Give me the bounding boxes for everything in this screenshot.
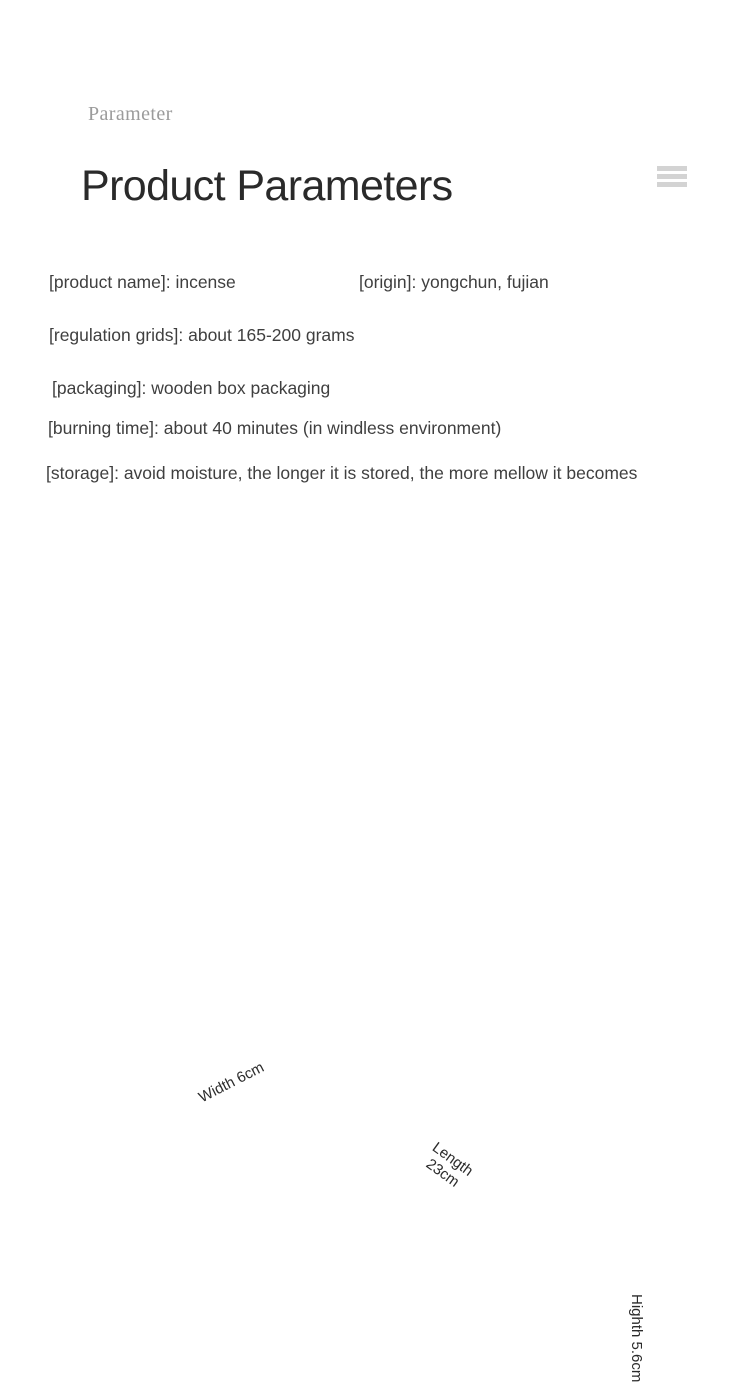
spec-row: [product name]: incense[origin]: yongchu…	[49, 271, 549, 294]
spec-storage: [storage]: avoid moisture, the longer it…	[46, 462, 637, 485]
menu-bar-3	[657, 182, 687, 187]
spec-origin: [origin]: yongchun, fujian	[359, 271, 549, 294]
length-dimension-label: Length 23cm	[419, 1139, 477, 1194]
product-photo-figure: Width 6cm Length 23cm Highth 5.6cm	[0, 525, 750, 995]
hamburger-menu-icon[interactable]	[657, 166, 687, 187]
menu-bar-1	[657, 166, 687, 171]
height-dimension-label: Highth 5.6cm	[628, 1294, 645, 1382]
spec-row: [regulation grids]: about 165-200 grams	[49, 324, 354, 347]
spec-packaging: [packaging]: wooden box packaging	[52, 377, 330, 400]
spec-row: [packaging]: wooden box packaging	[52, 377, 330, 400]
page-title: Product Parameters	[81, 162, 453, 210]
product-illustration	[0, 525, 750, 995]
spec-regulation-grids: [regulation grids]: about 165-200 grams	[49, 324, 354, 347]
eyebrow-label: Parameter	[88, 103, 173, 126]
width-dimension-label: Width 6cm	[196, 1059, 267, 1107]
spec-burning-time: [burning time]: about 40 minutes (in win…	[48, 417, 501, 440]
spec-product-name: [product name]: incense	[49, 271, 359, 294]
spec-row: [burning time]: about 40 minutes (in win…	[48, 417, 501, 440]
page-header: Parameter Product Parameters	[0, 0, 750, 230]
menu-bar-2	[657, 174, 687, 179]
spec-row: [storage]: avoid moisture, the longer it…	[46, 462, 646, 485]
